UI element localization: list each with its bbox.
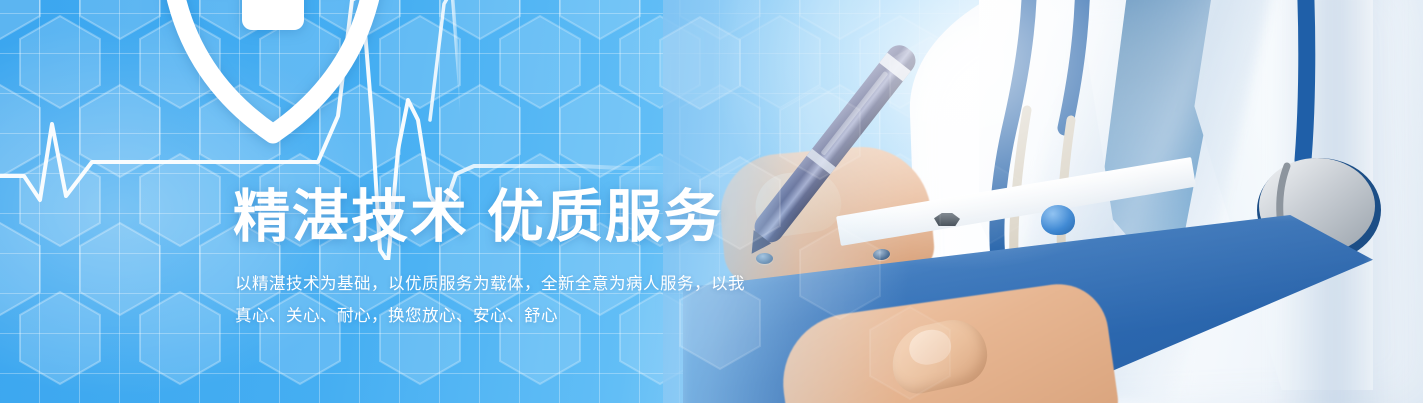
banner-text-block: 精湛技术 优质服务 以精湛技术为基础，以优质服务为载体，全新全意为病人服务，以我… <box>233 188 793 332</box>
medical-shield-cross-icon <box>148 0 398 168</box>
medical-hero-banner: 精湛技术 优质服务 以精湛技术为基础，以优质服务为载体，全新全意为病人服务，以我… <box>0 0 1423 403</box>
clipboard-knob <box>1041 205 1075 235</box>
subtitle-line-1: 以精湛技术为基础，以优质服务为载体，全新全意为病人服务，以我 <box>235 268 765 300</box>
page-title: 精湛技术 优质服务 <box>233 188 793 246</box>
banner-subtitle: 以精湛技术为基础，以优质服务为载体，全新全意为病人服务，以我 真心、关心、耐心，… <box>235 268 765 332</box>
subtitle-line-2: 真心、关心、耐心，换您放心、安心、舒心 <box>235 300 765 332</box>
